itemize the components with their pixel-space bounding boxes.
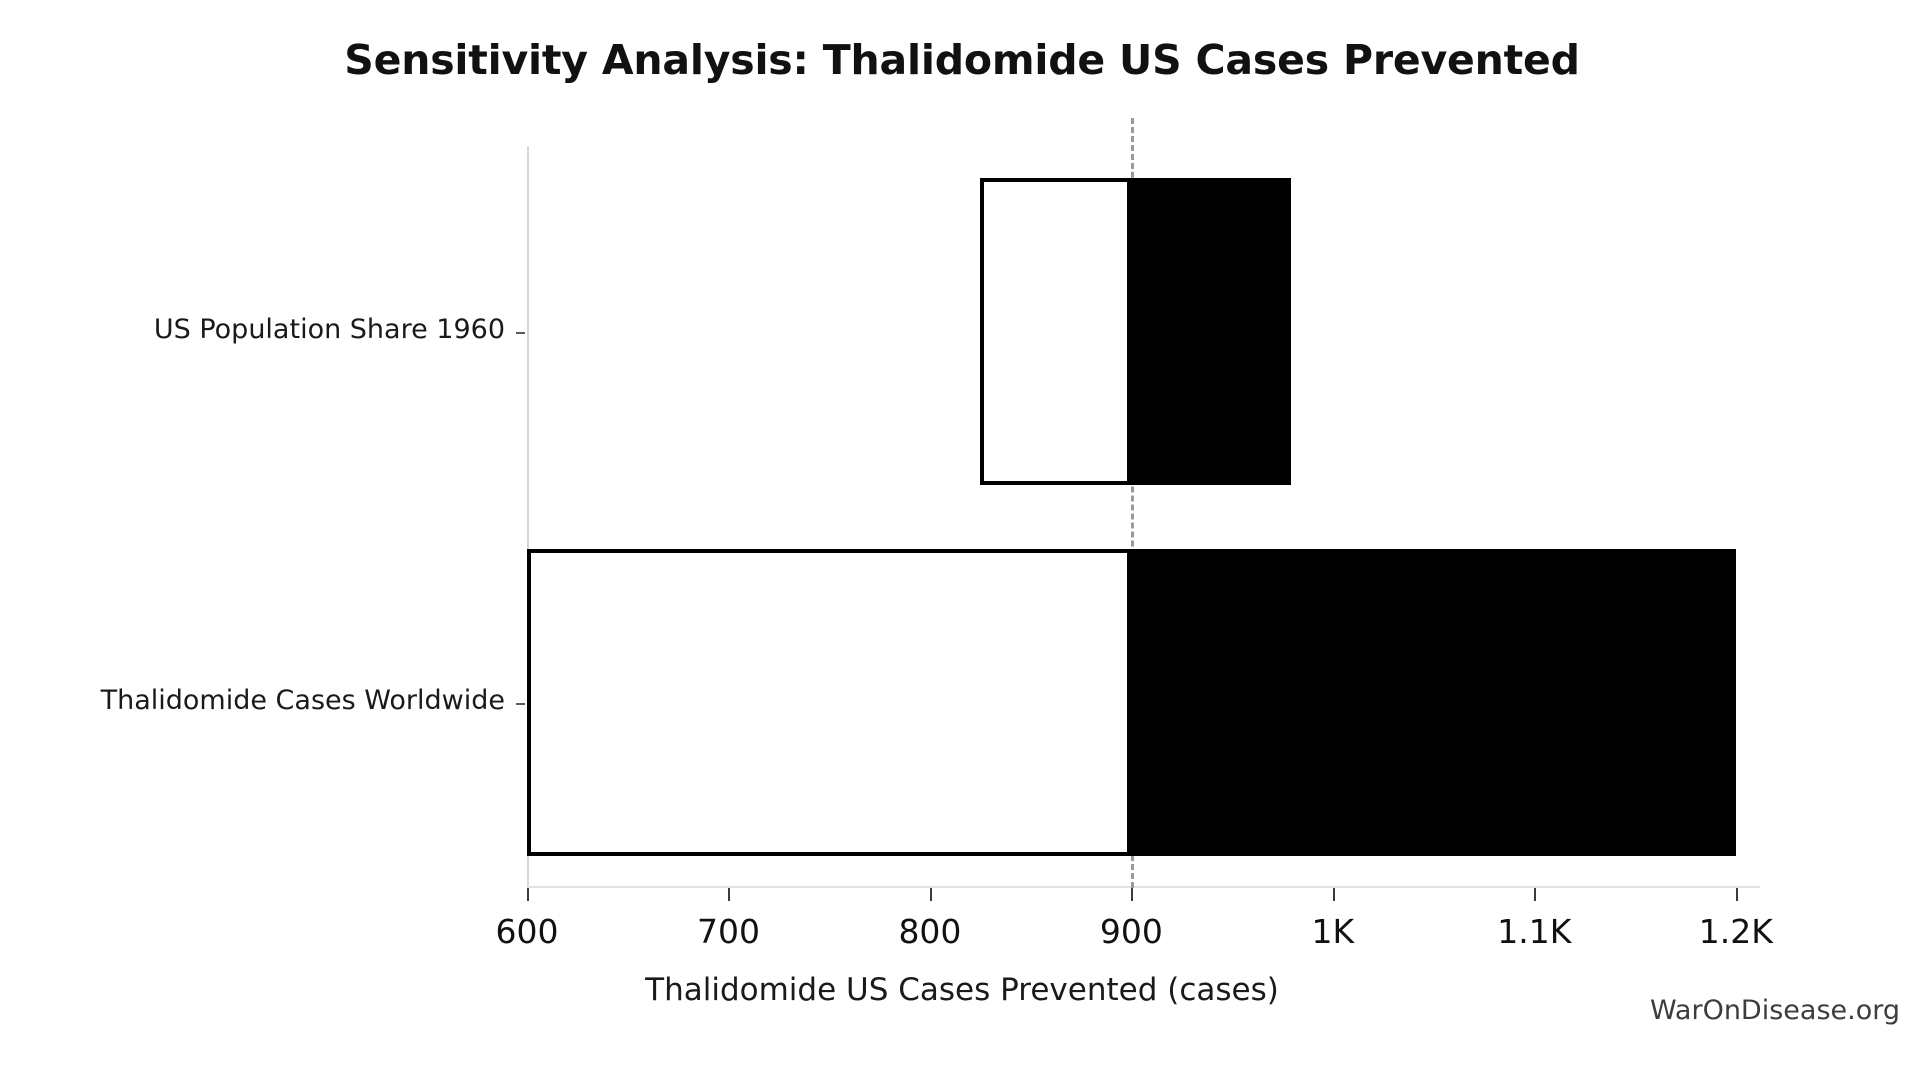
x-tick-mark: [1534, 888, 1536, 901]
y-tick-mark: [516, 703, 525, 705]
chart-title: Sensitivity Analysis: Thalidomide US Cas…: [0, 36, 1924, 84]
x-tick-label: 900: [1100, 912, 1163, 951]
watermark: WarOnDisease.org: [1650, 995, 1900, 1026]
x-tick-mark: [1736, 888, 1738, 901]
bar-low-segment: [980, 178, 1131, 486]
x-tick-mark: [527, 888, 529, 901]
plot-area: [527, 146, 1760, 888]
x-tick-label: 1.2K: [1699, 912, 1773, 951]
x-tick-label: 1K: [1312, 912, 1355, 951]
x-axis-title: Thalidomide US Cases Prevented (cases): [0, 972, 1924, 1008]
y-tick-mark: [516, 332, 525, 334]
x-tick-mark: [930, 888, 932, 901]
bar-high-segment: [1131, 178, 1290, 486]
y-tick-label: US Population Share 1960: [154, 314, 505, 345]
bar-high-segment: [1131, 549, 1735, 857]
x-tick-mark: [1333, 888, 1335, 901]
x-tick-mark: [728, 888, 730, 901]
sensitivity-tornado-chart: Sensitivity Analysis: Thalidomide US Cas…: [0, 0, 1924, 1075]
x-tick-label: 1.1K: [1497, 912, 1571, 951]
x-tick-label: 700: [697, 912, 760, 951]
x-axis-spine: [527, 886, 1760, 888]
y-tick-label: Thalidomide Cases Worldwide: [101, 685, 505, 716]
bar-low-segment: [527, 549, 1131, 857]
x-tick-label: 600: [496, 912, 559, 951]
x-tick-mark: [1131, 888, 1133, 901]
x-tick-label: 800: [898, 912, 961, 951]
